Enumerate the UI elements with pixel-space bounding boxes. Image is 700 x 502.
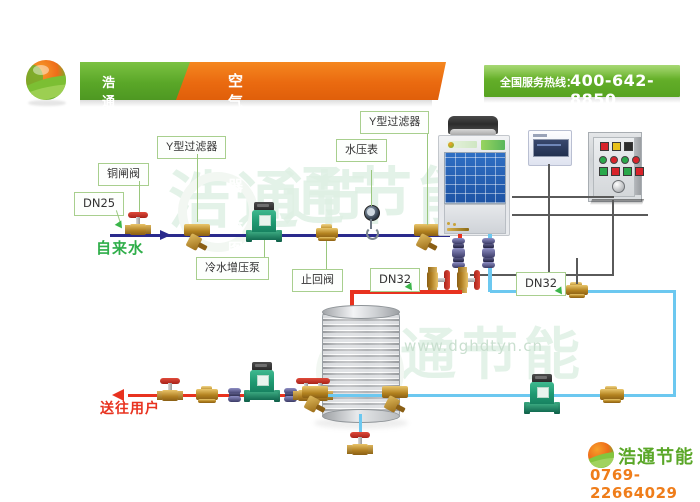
banner-title-text: 空气能热水器系统图 <box>228 70 245 259</box>
brand-logo <box>26 60 68 102</box>
arrow-dn25 <box>115 220 126 230</box>
hotline-label: 全国服务热线： <box>500 74 577 90</box>
page-header: 浩通节能 空气能热水器系统图 全国服务热线： 400-642-8850 <box>0 28 700 80</box>
wire-controller <box>548 164 550 274</box>
hotline-bar: 全国服务热线： 400-642-8850 <box>484 65 680 97</box>
haotong-sphere-logo-icon <box>26 60 66 100</box>
footer-tel: 0769-22664029 <box>590 466 694 502</box>
wire-unit-cabinet-2 <box>512 214 648 216</box>
label-gate-valve: 铜闸阀 <box>98 163 149 186</box>
label-check-valve: 止回阀 <box>292 269 343 292</box>
label-y-filter-2: Y型过滤器 <box>360 111 429 134</box>
banner-title-segment <box>176 62 446 100</box>
equipment-heat-pump <box>434 116 512 234</box>
banner-brand-text: 浩通节能 <box>102 72 116 148</box>
equipment-control-cabinet[interactable] <box>588 132 642 202</box>
pipe-cyan-right <box>673 290 676 396</box>
label-pressure-gauge: 水压表 <box>336 139 387 162</box>
label-to-users: 送往用户 <box>100 398 160 418</box>
label-booster-pump: 冷水增压泵 <box>196 257 269 280</box>
banner-brand-segment <box>80 62 190 100</box>
footer-sphere-icon <box>588 442 614 468</box>
label-y-filter-1: Y型过滤器 <box>157 136 226 159</box>
label-inlet-water: 自来水 <box>96 237 144 258</box>
hotline-number: 400-642-8850 <box>570 71 680 109</box>
flow-arrow-inlet <box>160 230 171 240</box>
wire-sensor <box>576 258 578 284</box>
wire-cabinet <box>612 200 614 274</box>
diagram-canvas: 浩通节 通节能 通节能 www.dghdtyn.cn 浩通节能 空气能热水器系统… <box>0 0 700 495</box>
wire-unit-cabinet <box>512 196 614 198</box>
equipment-wall-controller[interactable] <box>528 130 572 166</box>
watermark-url: www.dghdtyn.cn <box>404 337 543 355</box>
footer-logo: 浩通节能 0769-22664029 <box>588 440 694 488</box>
